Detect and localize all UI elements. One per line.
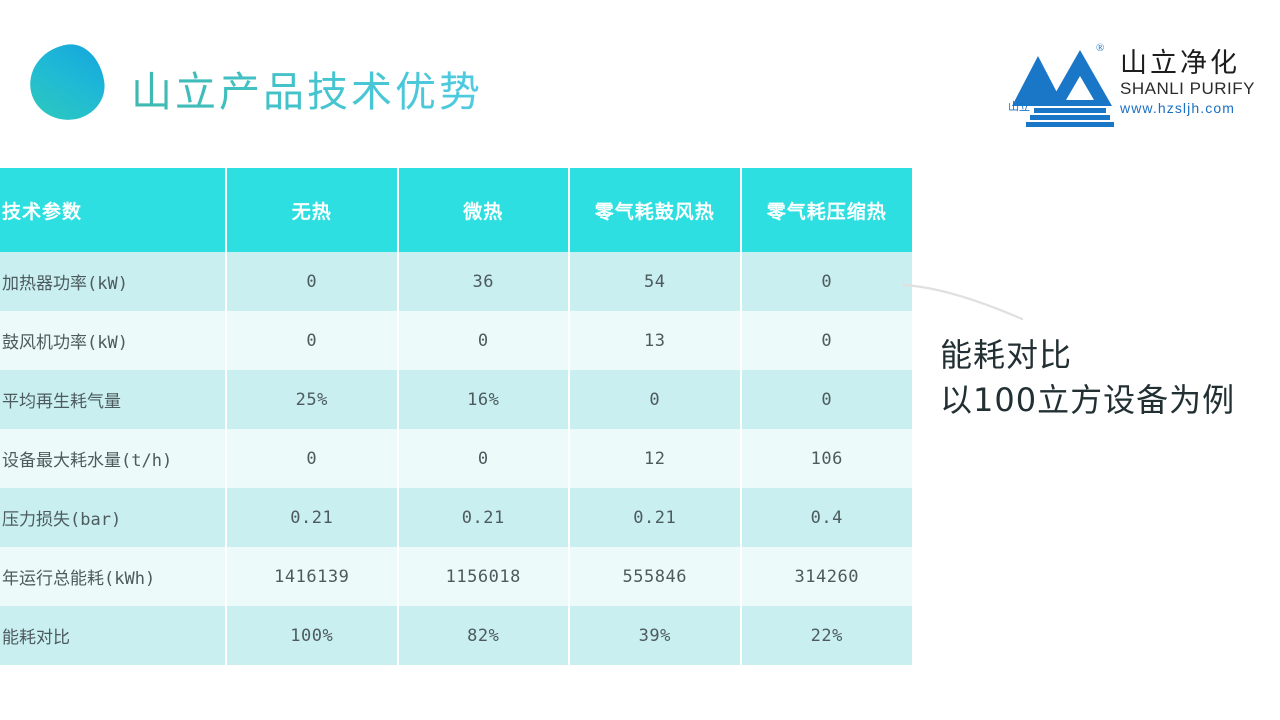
curved-pointer-line <box>900 275 1030 325</box>
table-row: 压力损失(bar) 0.21 0.21 0.21 0.4 <box>0 488 912 547</box>
cell-value: 0 <box>226 311 398 370</box>
column-header-1: 无热 <box>226 168 398 252</box>
cell-value: 0 <box>226 429 398 488</box>
callout-note: 能耗对比 以100立方设备为例 <box>940 333 1270 423</box>
cell-value: 0.21 <box>569 488 741 547</box>
brand-logo: ® 山立 山立净化 SHANLI PURIFY www.hzsljh.com <box>1008 40 1238 132</box>
registered-trademark-icon: ® <box>1096 42 1104 54</box>
row-label: 鼓风机功率(kW) <box>0 311 226 370</box>
cell-value: 100% <box>226 606 398 665</box>
slide-header: 山立产品技术优势 ® 山立 山立净化 SHANLI PURIFY www.hzs… <box>0 0 1280 150</box>
cell-value: 1156018 <box>398 547 570 606</box>
callout-line-2: 以100立方设备为例 <box>940 378 1270 423</box>
cell-value: 0.4 <box>741 488 913 547</box>
cell-value: 13 <box>569 311 741 370</box>
table-row: 设备最大耗水量(t/h) 0 0 12 106 <box>0 429 912 488</box>
cell-value: 22% <box>741 606 913 665</box>
cell-value: 0.21 <box>398 488 570 547</box>
cell-value: 54 <box>569 252 741 311</box>
cell-value: 0 <box>398 311 570 370</box>
cell-value: 82% <box>398 606 570 665</box>
cell-value: 0 <box>226 252 398 311</box>
cell-value: 0.21 <box>226 488 398 547</box>
cell-value: 16% <box>398 370 570 429</box>
table-row: 鼓风机功率(kW) 0 0 13 0 <box>0 311 912 370</box>
cell-value: 39% <box>569 606 741 665</box>
technical-spec-table: 技术参数 无热 微热 零气耗鼓风热 零气耗压缩热 加热器功率(kW) 0 36 … <box>0 168 912 665</box>
table-header-row: 技术参数 无热 微热 零气耗鼓风热 零气耗压缩热 <box>0 168 912 252</box>
row-label: 加热器功率(kW) <box>0 252 226 311</box>
column-header-param: 技术参数 <box>0 168 226 252</box>
blob-shape-icon <box>25 40 109 125</box>
row-label: 设备最大耗水量(t/h) <box>0 429 226 488</box>
table-row: 年运行总能耗(kWh) 1416139 1156018 555846 31426… <box>0 547 912 606</box>
cell-value: 1416139 <box>226 547 398 606</box>
cell-value: 0 <box>741 252 913 311</box>
row-label: 能耗对比 <box>0 606 226 665</box>
cell-value: 314260 <box>741 547 913 606</box>
row-label: 压力损失(bar) <box>0 488 226 547</box>
logo-website: www.hzsljh.com <box>1120 99 1245 117</box>
cell-value: 106 <box>741 429 913 488</box>
page-title: 山立产品技术优势 <box>131 58 483 118</box>
logo-company-en: SHANLI PURIFY <box>1120 79 1245 99</box>
logo-text-block: 山立净化 SHANLI PURIFY www.hzsljh.com <box>1120 48 1245 117</box>
cell-value: 0 <box>741 370 913 429</box>
row-label: 年运行总能耗(kWh) <box>0 547 226 606</box>
table-row: 平均再生耗气量 25% 16% 0 0 <box>0 370 912 429</box>
cell-value: 0 <box>741 311 913 370</box>
callout-line-1: 能耗对比 <box>940 333 1270 378</box>
table-row: 加热器功率(kW) 0 36 54 0 <box>0 252 912 311</box>
cell-value: 25% <box>226 370 398 429</box>
cell-value: 0 <box>398 429 570 488</box>
cell-value: 555846 <box>569 547 741 606</box>
table-row: 能耗对比 100% 82% 39% 22% <box>0 606 912 665</box>
row-label: 平均再生耗气量 <box>0 370 226 429</box>
cell-value: 12 <box>569 429 741 488</box>
column-header-2: 微热 <box>398 168 570 252</box>
cell-value: 0 <box>569 370 741 429</box>
column-header-4: 零气耗压缩热 <box>741 168 913 252</box>
logo-mini-label: 山立 <box>1008 98 1030 114</box>
logo-company-cn: 山立净化 <box>1120 48 1245 79</box>
column-header-3: 零气耗鼓风热 <box>569 168 741 252</box>
cell-value: 36 <box>398 252 570 311</box>
